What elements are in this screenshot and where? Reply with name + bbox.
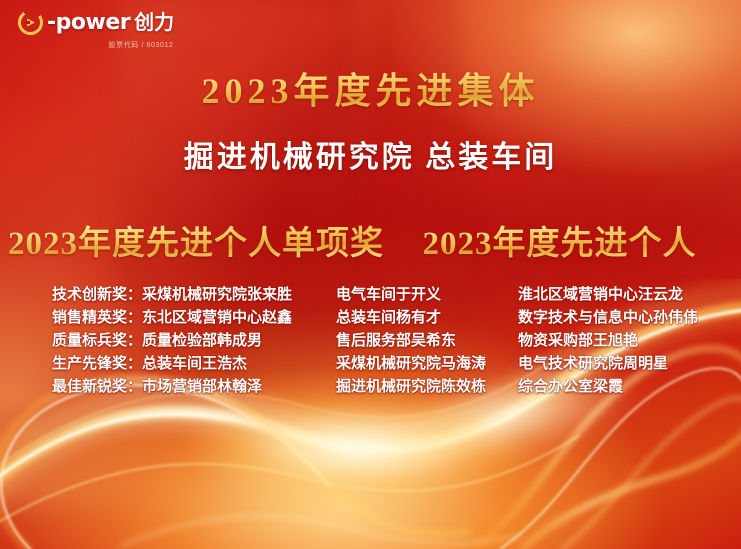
- list-item: 技术创新奖：采煤机械研究院张来胜: [52, 284, 330, 307]
- ribbon-core-glow: [193, 393, 523, 503]
- logo-row: -power 创力: [18, 10, 228, 35]
- collective-winners: 掘进机械研究院 总装车间: [0, 132, 741, 176]
- list-item: 销售精英奖：东北区域营销中心赵鑫: [52, 307, 330, 330]
- list-item: 售后服务部吴希东 物资采购部王旭艳: [336, 330, 717, 353]
- winner-name: 采煤机械研究院马海涛: [336, 353, 518, 376]
- winner-name: 综合办公室梁霞: [518, 376, 717, 399]
- winner-name: 数字技术与信息中心孙伟伟: [518, 307, 717, 330]
- winner-name: 淮北区域营销中心汪云龙: [518, 284, 717, 307]
- advanced-individual-list: 电气车间于开义 淮北区域营销中心汪云龙 总装车间杨有才 数字技术与信息中心孙伟伟…: [330, 284, 741, 399]
- list-item: 最佳新锐奖：市场营销部林翰泽: [52, 376, 330, 399]
- list-item: 生产先锋奖：总装车间王浩杰: [52, 353, 330, 376]
- page-title-collective: 2023年度先进集体: [0, 62, 741, 114]
- winner-lists: 技术创新奖：采煤机械研究院张来胜 销售精英奖：东北区域营销中心赵鑫 质量标兵奖：…: [0, 284, 741, 399]
- winner-name: 总装车间杨有才: [336, 307, 518, 330]
- winner-name: 电气技术研究院周明星: [518, 353, 717, 376]
- list-item: 电气车间于开义 淮北区域营销中心汪云龙: [336, 284, 717, 307]
- heading-individual-special-awards: 2023年度先进个人单项奖: [0, 216, 392, 264]
- logo-text-cn: 创力: [134, 13, 174, 33]
- award-poster: -power 创力 股票代码 / 603012 2023年度先进集体 掘进机械研…: [0, 0, 741, 549]
- individual-special-award-list: 技术创新奖：采煤机械研究院张来胜 销售精英奖：东北区域营销中心赵鑫 质量标兵奖：…: [0, 284, 330, 399]
- list-item: 总装车间杨有才 数字技术与信息中心孙伟伟: [336, 307, 717, 330]
- list-item: 采煤机械研究院马海涛 电气技术研究院周明星: [336, 353, 717, 376]
- award-section-headings: 2023年度先进个人单项奖 2023年度先进个人: [0, 216, 741, 264]
- c-power-logo-icon: [18, 10, 43, 35]
- winner-name: 物资采购部王旭艳: [518, 330, 717, 353]
- stock-code-label: 股票代码 / 603012: [18, 40, 228, 50]
- list-item: 质量标兵奖：质量检验部韩成男: [52, 330, 330, 353]
- brand-logo[interactable]: -power 创力 股票代码 / 603012: [18, 10, 228, 50]
- heading-advanced-individuals: 2023年度先进个人: [392, 216, 741, 264]
- list-item: 掘进机械研究院陈效栋 综合办公室梁霞: [336, 376, 717, 399]
- logo-text-en: -power: [47, 12, 130, 34]
- winner-name: 电气车间于开义: [336, 284, 518, 307]
- winner-name: 售后服务部吴希东: [336, 330, 518, 353]
- winner-name: 掘进机械研究院陈效栋: [336, 376, 518, 399]
